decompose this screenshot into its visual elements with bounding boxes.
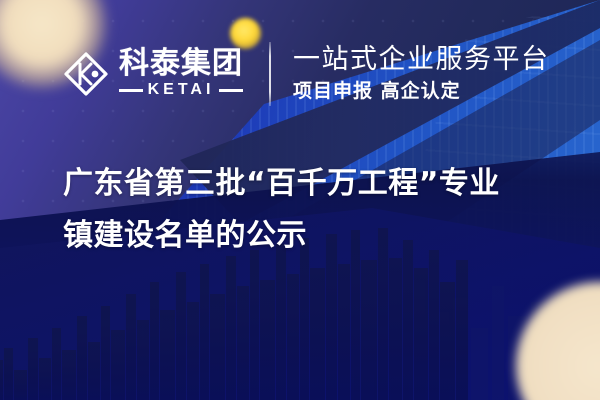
slogan-main: 一站式企业服务平台	[293, 44, 550, 75]
headline: 广东省第三批“百千万工程”专业 镇建设名单的公示	[63, 158, 563, 262]
brand-name-en: KETAI	[148, 81, 215, 99]
brand-name-en-row: KETAI	[119, 81, 243, 99]
headline-line-1: 广东省第三批“百千万工程”专业	[63, 158, 563, 210]
slogan-block: 一站式企业服务平台 项目申报 高企认定	[293, 44, 550, 104]
logo-dash-left	[119, 89, 143, 92]
ketai-diamond-k-logo-icon	[62, 50, 110, 98]
header-divider	[269, 42, 271, 106]
brand-header: 科泰集团 KETAI 一站式企业服务平台 项目申报 高企认定	[62, 42, 550, 106]
promo-banner: 科泰集团 KETAI 一站式企业服务平台 项目申报 高企认定 广东省第三批“百千…	[0, 0, 600, 400]
slogan-sub: 项目申报 高企认定	[293, 79, 550, 104]
brand-name-cn: 科泰集团	[119, 49, 243, 80]
brand-logo[interactable]: 科泰集团 KETAI	[62, 49, 243, 100]
logo-dash-right	[219, 89, 243, 92]
headline-line-2: 镇建设名单的公示	[63, 210, 563, 262]
